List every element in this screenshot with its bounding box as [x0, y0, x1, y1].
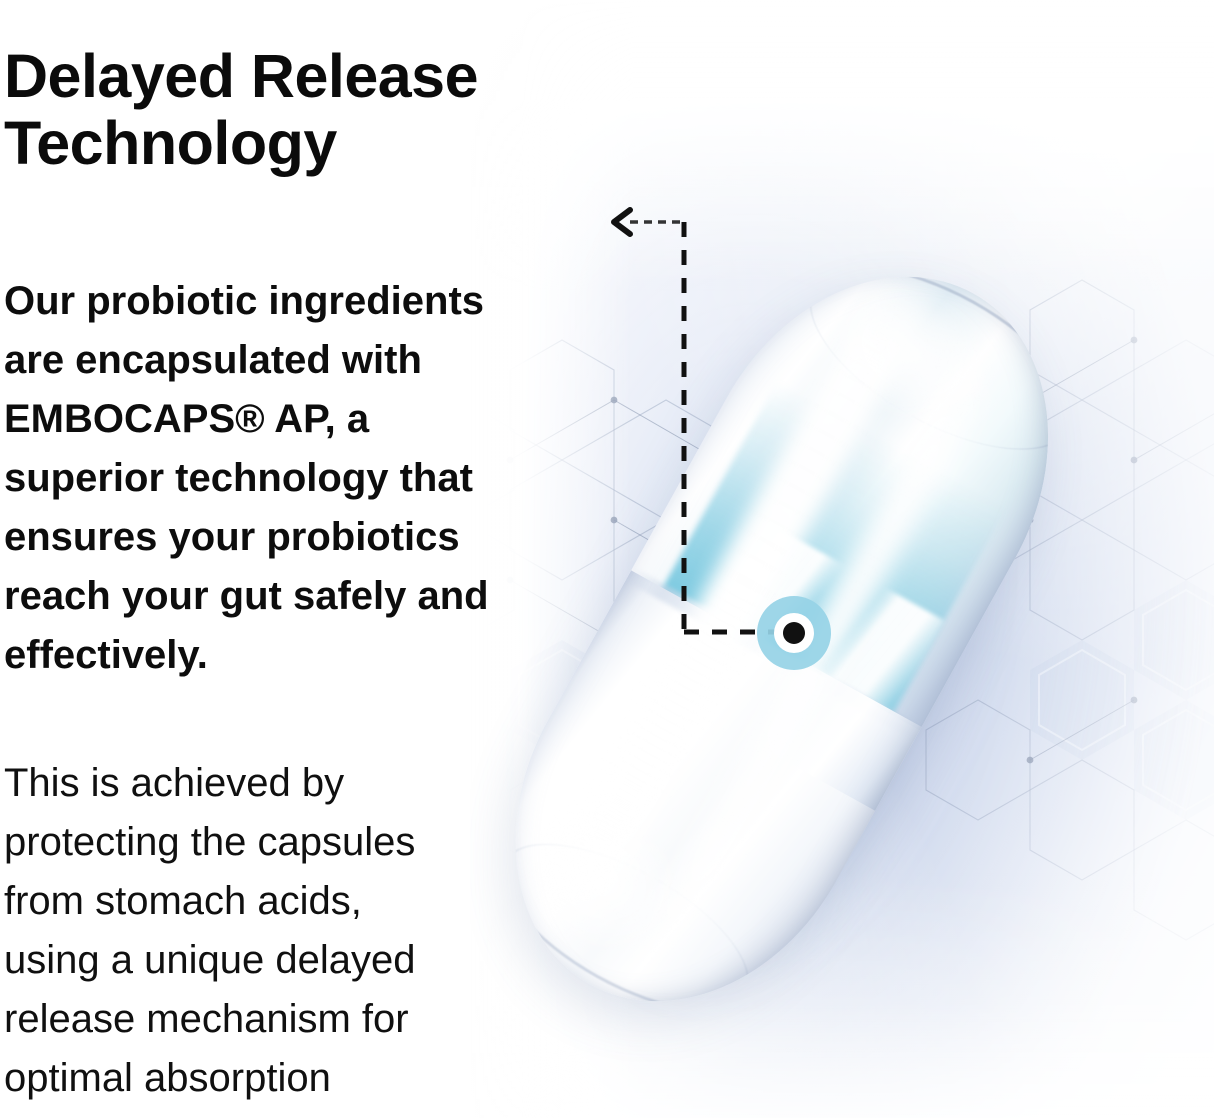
page-title: Delayed Release Technology — [4, 43, 604, 177]
text-column: Delayed Release Technology Our probiotic… — [4, 0, 604, 1118]
secondary-description-paragraph: This is achieved by protecting the capsu… — [4, 754, 594, 1108]
target-center-dot — [783, 622, 805, 644]
callout-target-marker — [757, 596, 831, 670]
primary-description-paragraph: Our probiotic ingredients are encapsulat… — [4, 272, 594, 685]
delayed-release-technology-panel: Delayed Release Technology Our probiotic… — [0, 0, 1214, 1118]
